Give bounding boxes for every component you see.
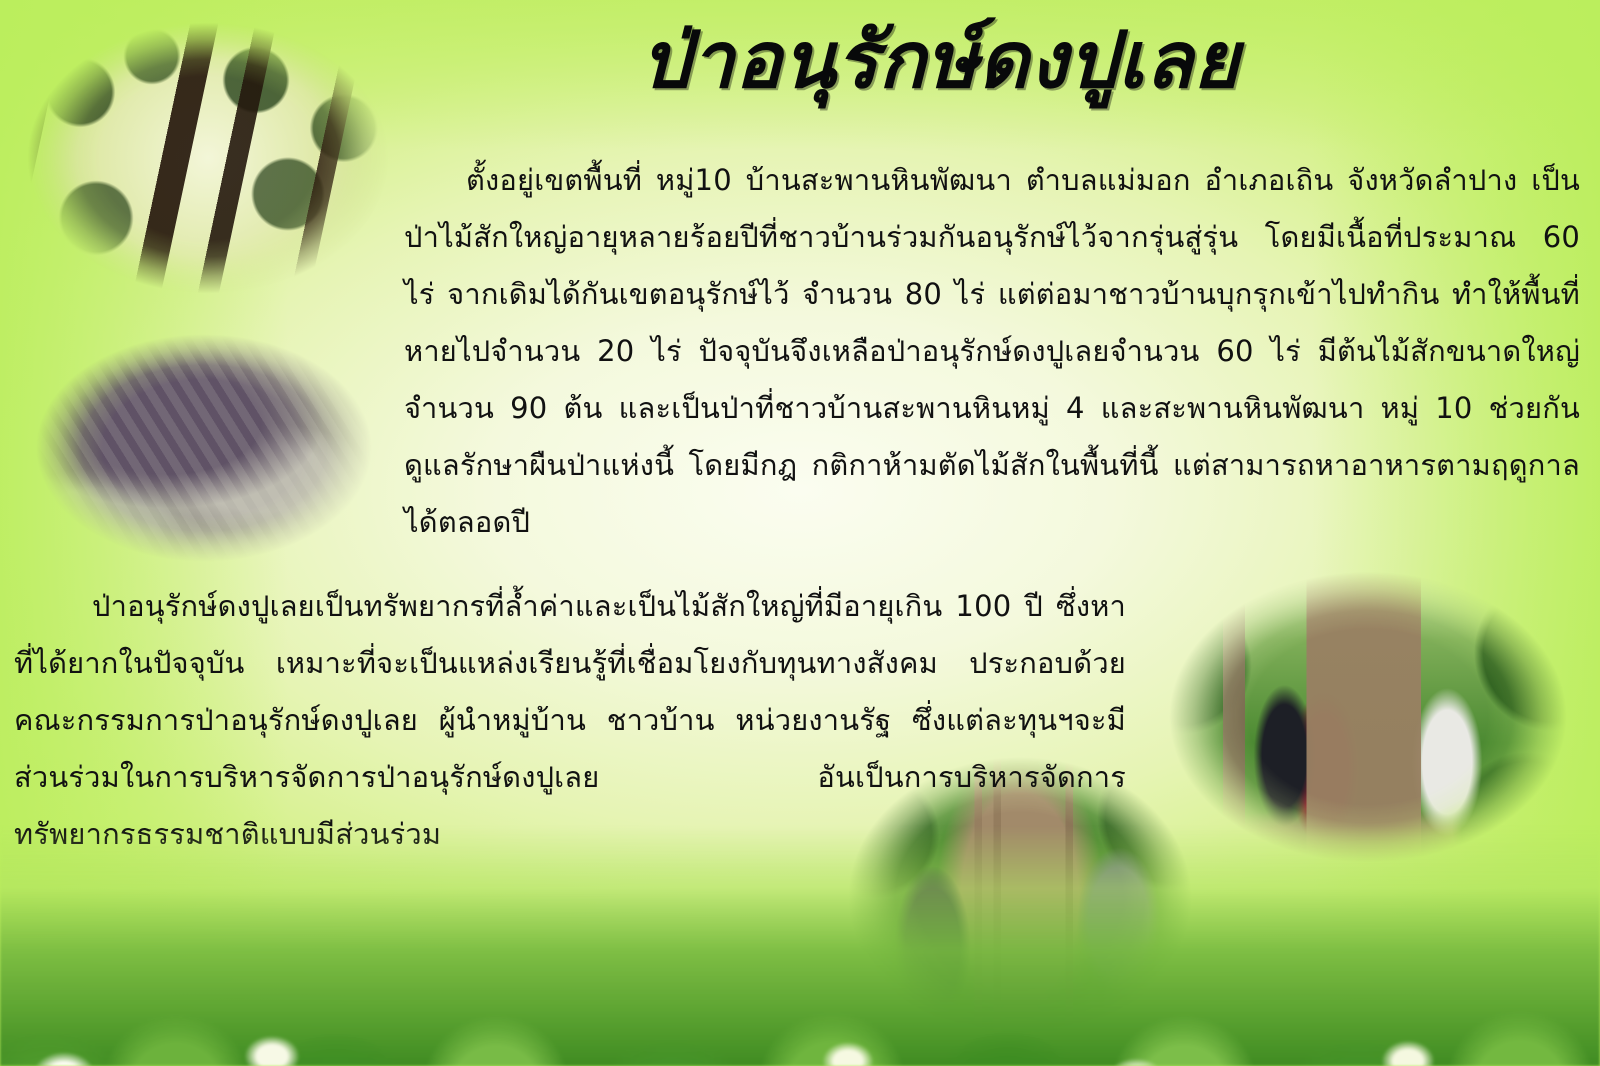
poster-title: ป่าอนุรักษ์ดงปูเลย <box>560 18 1320 105</box>
photo-satellite-map <box>18 322 390 574</box>
photo-forest-canopy <box>8 8 408 308</box>
photo-students-giant-teak-image <box>1148 556 1588 878</box>
second-paragraph: ป่าอนุรักษ์ดงปูเลยเป็นทรัพยากรที่ล้ำค่าแ… <box>14 578 1126 863</box>
photo-satellite-map-image <box>18 322 390 574</box>
poster-canvas: ป่าอนุรักษ์ดงปูเลย ตั้งอยู่เขตพื้นที่ หม… <box>0 0 1600 1066</box>
photo-students-giant-teak <box>1148 556 1588 878</box>
main-paragraph: ตั้งอยู่เขตพื้นที่ หมู่10 บ้านสะพานหินพั… <box>404 152 1580 551</box>
photo-forest-canopy-image <box>8 8 408 308</box>
